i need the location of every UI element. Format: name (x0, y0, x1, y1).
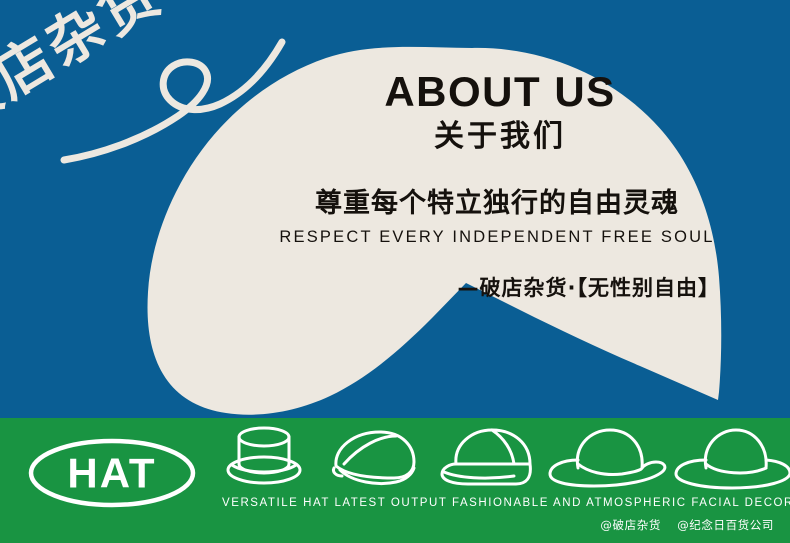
slogan-en: RESPECT EVERY INDEPENDENT FREE SOUL (262, 228, 732, 247)
cowboy-hat-icon (550, 430, 665, 486)
top-hat-icon (228, 428, 300, 483)
hat-logo-text: HAT (67, 450, 156, 497)
hat-oval-logo: HAT (27, 437, 197, 509)
about-heading-block: ABOUT US 关于我们 (270, 70, 730, 153)
bowler-brim-hat-icon (676, 430, 790, 488)
slogan-attribution: —破店杂货·【无性别自由】 (270, 272, 720, 302)
slogan-cn: 尊重每个特立独行的自由灵魂 (262, 188, 732, 219)
footer-tagline: VERSATILE HAT LATEST OUTPUT FASHIONABLE … (222, 497, 788, 509)
about-us-poster: 破店杂货 ABOUT US 关于我们 尊重每个特立独行的自由灵魂 RESPECT… (0, 0, 790, 543)
credit-handle-2: @纪念日百货公司 (677, 518, 774, 532)
page-title-cn: 关于我们 (270, 120, 730, 153)
slogan-block: 尊重每个特立独行的自由灵魂 RESPECT EVERY INDEPENDENT … (262, 188, 732, 247)
baseball-cap-icon (442, 430, 530, 484)
flat-cap-icon (333, 432, 414, 484)
footer-credits: @破店杂货 @纪念日百货公司 (600, 517, 774, 533)
credit-handle-1: @破店杂货 (600, 518, 661, 532)
page-title-en: ABOUT US (270, 70, 730, 114)
hat-icon-row (222, 424, 790, 494)
